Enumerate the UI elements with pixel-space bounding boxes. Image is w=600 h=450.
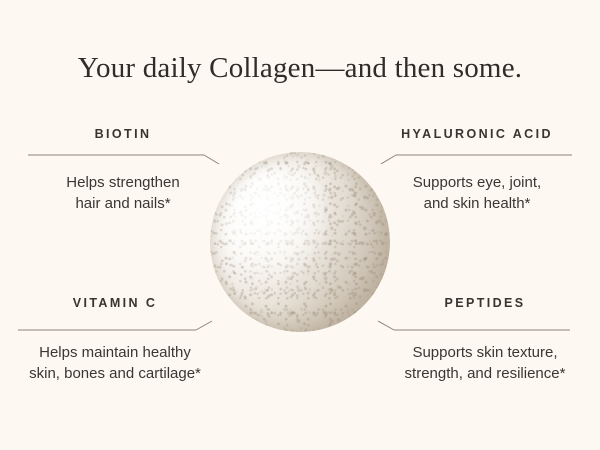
nutrient-label-vitamin-c: VITAMIN C — [0, 297, 230, 310]
page-title: Your daily Collagen—and then some. — [0, 52, 600, 85]
nutrient-description-vitamin-c: Helps maintain healthy skin, bones and c… — [0, 342, 230, 384]
nutrient-block-vitamin-c: VITAMIN C Helps maintain healthy skin, b… — [0, 297, 230, 384]
nutrient-description-biotin: Helps strengthen hair and nails* — [8, 172, 238, 214]
divider-rule-biotin — [8, 150, 238, 166]
collagen-benefits-graphic: Your daily Collagen—and then some. BIOTI… — [0, 0, 600, 450]
nutrient-block-peptides: PEPTIDES Supports skin texture, strength… — [370, 297, 600, 384]
nutrient-label-hyaluronic-acid: HYALURONIC ACID — [362, 128, 592, 141]
divider-rule-vitamin-c — [0, 319, 230, 335]
nutrient-block-hyaluronic-acid: HYALURONIC ACID Supports eye, joint, and… — [362, 128, 592, 214]
nutrient-block-biotin: BIOTIN Helps strengthen hair and nails* — [8, 128, 238, 214]
nutrient-label-biotin: BIOTIN — [8, 128, 238, 141]
divider-rule-peptides — [370, 319, 600, 335]
nutrient-description-peptides: Supports skin texture, strength, and res… — [370, 342, 600, 384]
nutrient-description-hyaluronic-acid: Supports eye, joint, and skin health* — [362, 172, 592, 214]
divider-rule-hyaluronic-acid — [362, 150, 592, 166]
nutrient-label-peptides: PEPTIDES — [370, 297, 600, 310]
